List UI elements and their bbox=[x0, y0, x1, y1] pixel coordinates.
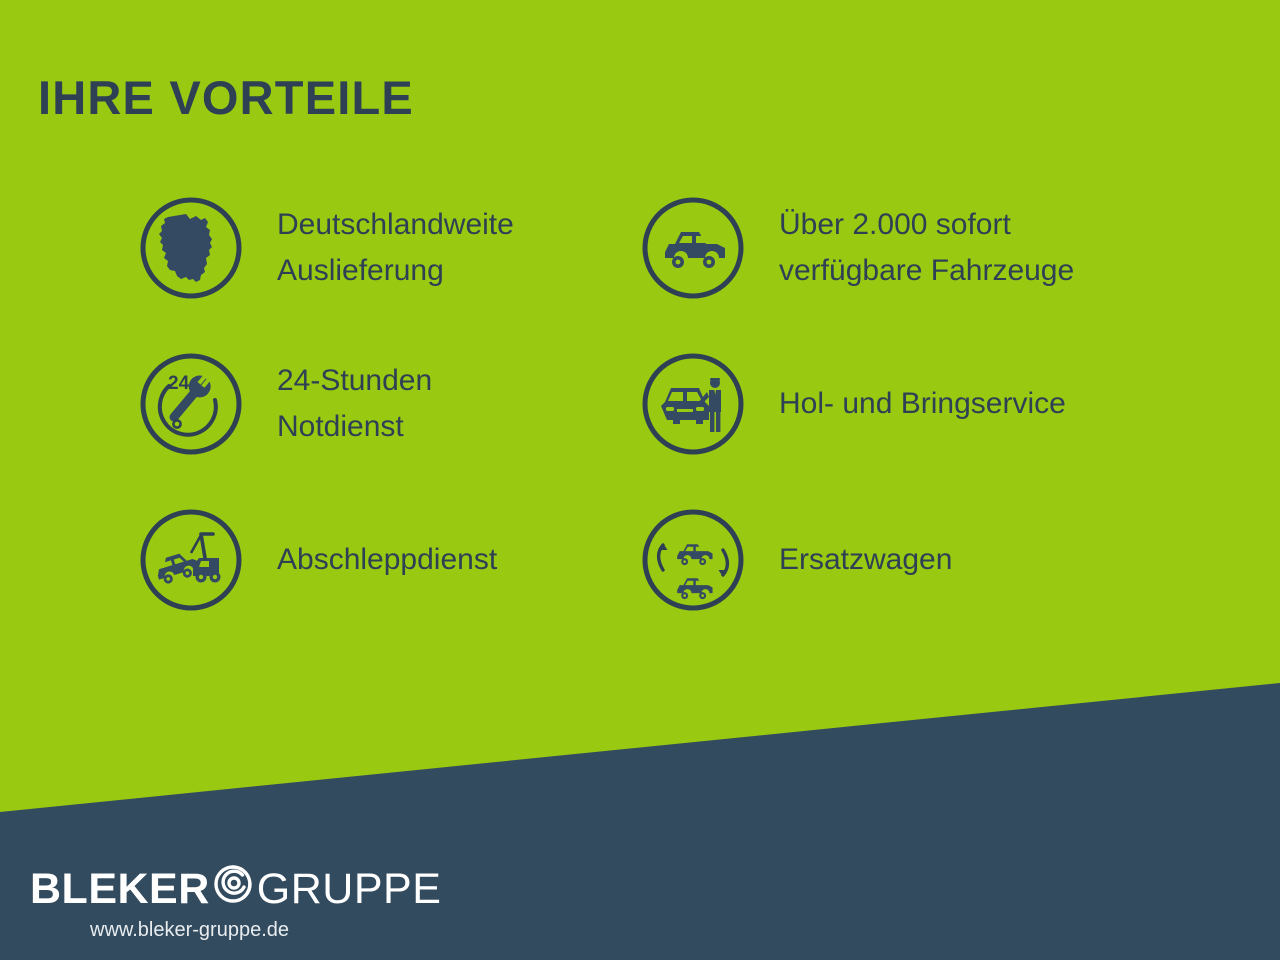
benefit-label: Deutschlandweite Auslieferung bbox=[277, 202, 514, 293]
benefit-label: 24-Stunden Notdienst bbox=[277, 358, 432, 449]
page-title: IHRE VORTEILE bbox=[38, 74, 414, 121]
footer-logo-block[interactable]: BLEKER GRUPPE www.bleker-gruppe.de bbox=[30, 863, 370, 942]
logo-secondary-text: GRUPPE bbox=[257, 868, 442, 911]
benefits-row: 24 24-Stunden Notdienst bbox=[0, 352, 1280, 508]
benefit-item-hol-und-bringservice: Hol- und Bringservice bbox=[641, 352, 1066, 456]
footer-url[interactable]: www.bleker-gruppe.de bbox=[90, 919, 370, 942]
benefits-grid: Deutschlandweite Auslieferung Über 2.000… bbox=[0, 196, 1280, 664]
slide-canvas: IHRE VORTEILE Deutschlandweite Ausliefer… bbox=[0, 0, 1280, 960]
logo-wordmark: BLEKER GRUPPE bbox=[30, 863, 370, 915]
benefit-label: Über 2.000 sofort verfügbare Fahrzeuge bbox=[779, 202, 1074, 293]
svg-text:24: 24 bbox=[168, 373, 190, 394]
benefit-item-ersatzwagen: Ersatzwagen bbox=[641, 508, 952, 612]
two-cars-exchange-icon bbox=[641, 508, 745, 612]
germany-map-icon bbox=[139, 196, 243, 300]
benefit-item-deutschlandweite-auslieferung: Deutschlandweite Auslieferung bbox=[139, 196, 514, 300]
benefits-row: Deutschlandweite Auslieferung Über 2.000… bbox=[0, 196, 1280, 352]
tow-truck-icon bbox=[139, 508, 243, 612]
benefit-label: Abschleppdienst bbox=[277, 537, 497, 583]
spiral-icon bbox=[208, 859, 258, 909]
benefit-label: Hol- und Bringservice bbox=[779, 381, 1066, 427]
benefit-item-verfuegbare-fahrzeuge: Über 2.000 sofort verfügbare Fahrzeuge bbox=[641, 196, 1074, 300]
car-side-icon bbox=[641, 196, 745, 300]
clock-24-wrench-icon: 24 bbox=[139, 352, 243, 456]
benefits-row: Abschleppdienst bbox=[0, 508, 1280, 664]
benefit-label: Ersatzwagen bbox=[779, 537, 952, 583]
logo-primary-text: BLEKER bbox=[30, 868, 210, 911]
benefit-item-abschleppdienst: Abschleppdienst bbox=[139, 508, 497, 612]
car-with-driver-icon bbox=[641, 352, 745, 456]
benefit-item-24-stunden-notdienst: 24 24-Stunden Notdienst bbox=[139, 352, 432, 456]
